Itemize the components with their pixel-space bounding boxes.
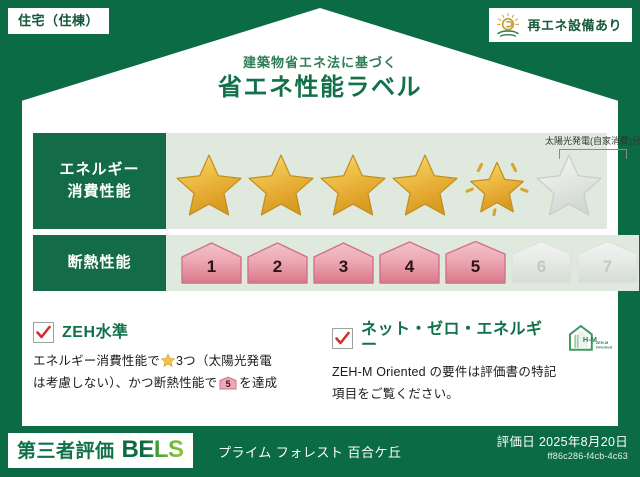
- zeh-body-text-1: エネルギー消費性能で: [33, 354, 160, 368]
- nze-body-line2: 項目をご覧ください。: [332, 387, 459, 401]
- title-subtitle: 建築物省エネ法に基づく: [0, 56, 640, 70]
- insulation-level-number: 2: [246, 241, 309, 285]
- star-slot: [534, 152, 604, 216]
- net-zero-energy-column: ネット・ゼロ・エネルギー H-M ZEH-M Oriented: [332, 322, 613, 406]
- nze-body-line1: ZEH-M Oriented の要件は評価書の特記: [332, 365, 556, 379]
- insulation-level-badge: 1: [180, 241, 243, 285]
- star-icon-filled: [176, 152, 242, 216]
- zeh-body-text-3: は考慮しない）、かつ断熱性能で: [33, 376, 217, 390]
- title-block: 建築物省エネ法に基づく 省エネ性能ラベル: [0, 56, 640, 102]
- zeh-standard-column: ZEH水準 エネルギー消費性能で3つ（太陽光発電 は考慮しない）、かつ断熱性能で…: [33, 322, 314, 406]
- insulation-level-inline-badge: 5: [219, 376, 237, 390]
- insulation-level-number: 5: [444, 241, 507, 285]
- star-icon-solar: [464, 152, 530, 216]
- star-slot: [174, 152, 244, 216]
- checkbox-checked-icon: [33, 322, 54, 343]
- footer-bar: 第三者評価 BELS プライム フォレスト 百合ケ丘 評価日 2025年8月20…: [0, 427, 640, 477]
- energy-row-header: エネルギー 消費性能: [33, 133, 166, 229]
- bels-badge: 第三者評価 BELS: [8, 433, 193, 468]
- star-slot: [318, 152, 388, 216]
- insulation-level-badge: 6: [510, 241, 573, 285]
- insulation-level-badge: 3: [312, 241, 375, 285]
- energy-performance-row: エネルギー 消費性能 太陽光発電(自家消費)分: [33, 133, 607, 229]
- zeh-body-text-2: 3つ（太陽光発電: [176, 354, 272, 368]
- criteria-columns: ZEH水準 エネルギー消費性能で3つ（太陽光発電 は考慮しない）、かつ断熱性能で…: [33, 322, 613, 406]
- zeh-m-logo-caption-line2: Oriented: [596, 344, 613, 349]
- insulation-level-number: 1: [180, 241, 243, 285]
- solar-sun-icon: [495, 12, 521, 38]
- insulation-level-number: 3: [312, 241, 375, 285]
- insulation-level-badge: 5: [444, 241, 507, 285]
- net-zero-energy-title: ネット・ゼロ・エネルギー: [361, 322, 557, 354]
- star-icon-filled: [392, 152, 458, 216]
- zeh-standard-header: ZEH水準: [33, 322, 314, 343]
- performance-rows: エネルギー 消費性能 太陽光発電(自家消費)分: [33, 133, 607, 297]
- insulation-row-body: 1 2 3: [166, 235, 639, 291]
- star-rating: [166, 152, 604, 216]
- insulation-level-badge: 7: [576, 241, 639, 285]
- zeh-body-text-4: を達成: [239, 376, 277, 390]
- solar-annotation-label: 太陽光発電(自家消費)分: [518, 137, 640, 146]
- checkbox-checked-icon: [332, 328, 353, 349]
- insulation-level-badge: 2: [246, 241, 309, 285]
- building-type-tag: 住宅（住棟）: [8, 8, 109, 34]
- energy-header-line2: 消費性能: [67, 181, 131, 203]
- energy-row-body: 太陽光発電(自家消費)分: [166, 133, 607, 229]
- net-zero-energy-body: ZEH-M Oriented の要件は評価書の特記 項目をご覧ください。: [332, 362, 613, 406]
- star-slot: [390, 152, 460, 216]
- insulation-level-badge: 4: [378, 241, 441, 285]
- insulation-level-number: 7: [576, 241, 639, 285]
- insulation-row-header: 断熱性能: [33, 235, 166, 291]
- zeh-standard-title: ZEH水準: [62, 325, 129, 341]
- insulation-performance-row: 断熱性能: [33, 235, 607, 291]
- building-type-label: 住宅（住棟）: [18, 13, 99, 28]
- insulation-level-scale: 1 2 3: [166, 241, 639, 285]
- bels-japanese-label: 第三者評価: [17, 442, 115, 461]
- insulation-level-inline-number: 5: [219, 376, 237, 390]
- energy-label-root: 住宅（住棟） 再エネ設備あり 建築: [0, 0, 640, 477]
- property-name: プライム フォレスト 百合ケ丘: [218, 446, 401, 459]
- star-icon-filled: [320, 152, 386, 216]
- evaluation-id: ff86c286-f4cb-4c63: [497, 450, 628, 463]
- zeh-m-oriented-logo: H-M ZEH-M Oriented: [567, 323, 613, 353]
- renewable-energy-badge: 再エネ設備あり: [489, 8, 632, 42]
- evaluation-info: 評価日 2025年8月20日 ff86c286-f4cb-4c63: [497, 435, 628, 463]
- star-slot: [246, 152, 316, 216]
- renewable-badge-label: 再エネ設備あり: [527, 19, 622, 32]
- star-icon-empty: [536, 152, 602, 216]
- star-icon-inline: [161, 353, 175, 367]
- svg-text:H-M: H-M: [583, 335, 597, 344]
- bels-logo-text: BELS: [122, 438, 184, 462]
- page-title: 省エネ性能ラベル: [0, 75, 640, 101]
- net-zero-energy-header: ネット・ゼロ・エネルギー H-M ZEH-M Oriented: [332, 322, 613, 354]
- insulation-level-number: 4: [378, 241, 441, 285]
- energy-header-line1: エネルギー: [59, 159, 139, 181]
- insulation-header-label: 断熱性能: [67, 252, 131, 274]
- star-icon-filled: [248, 152, 314, 216]
- insulation-level-number: 6: [510, 241, 573, 285]
- zeh-standard-body: エネルギー消費性能で3つ（太陽光発電 は考慮しない）、かつ断熱性能で5を達成: [33, 351, 314, 395]
- star-slot-solar: [462, 152, 532, 216]
- evaluation-date: 評価日 2025年8月20日: [497, 435, 628, 450]
